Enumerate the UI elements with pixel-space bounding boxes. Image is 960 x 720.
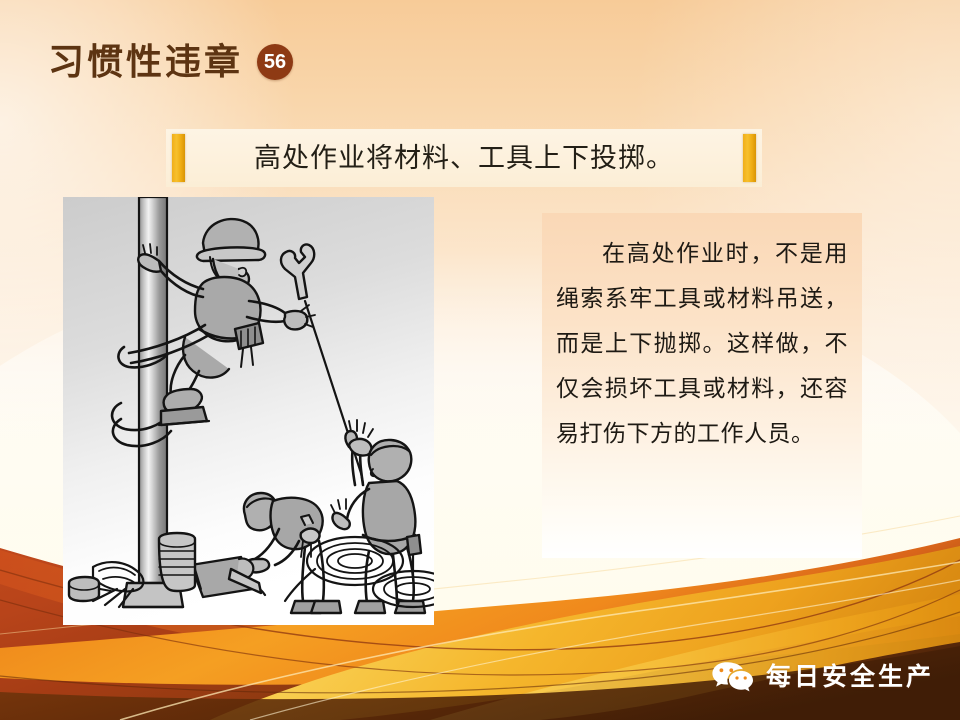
footer-brand-label: 每日安全生产 <box>766 665 934 690</box>
vertical-gold-bar-icon-right <box>743 134 756 182</box>
subtitle-banner: 高处作业将材料、工具上下投掷。 <box>166 129 762 187</box>
footer-brand: 每日安全生产 <box>710 660 934 694</box>
wechat-icon <box>710 660 754 694</box>
subtitle-text: 高处作业将材料、工具上下投掷。 <box>185 145 743 172</box>
page-header: 习惯性违章 56 <box>48 44 293 80</box>
vertical-gold-bar-icon-left <box>172 134 185 182</box>
description-panel: 在高处作业时，不是用绳索系牢工具或材料吊送，而是上下抛掷。这样做，不仅会损坏工具… <box>542 213 862 558</box>
illustration-frame <box>63 197 434 625</box>
page-title: 习惯性违章 <box>48 44 243 80</box>
slide-root: 习惯性违章 56 高处作业将材料、工具上下投掷。 <box>0 0 960 720</box>
description-text: 在高处作业时，不是用绳索系牢工具或材料吊送，而是上下抛掷。这样做，不仅会损坏工具… <box>556 231 848 456</box>
section-number-badge: 56 <box>257 44 293 80</box>
